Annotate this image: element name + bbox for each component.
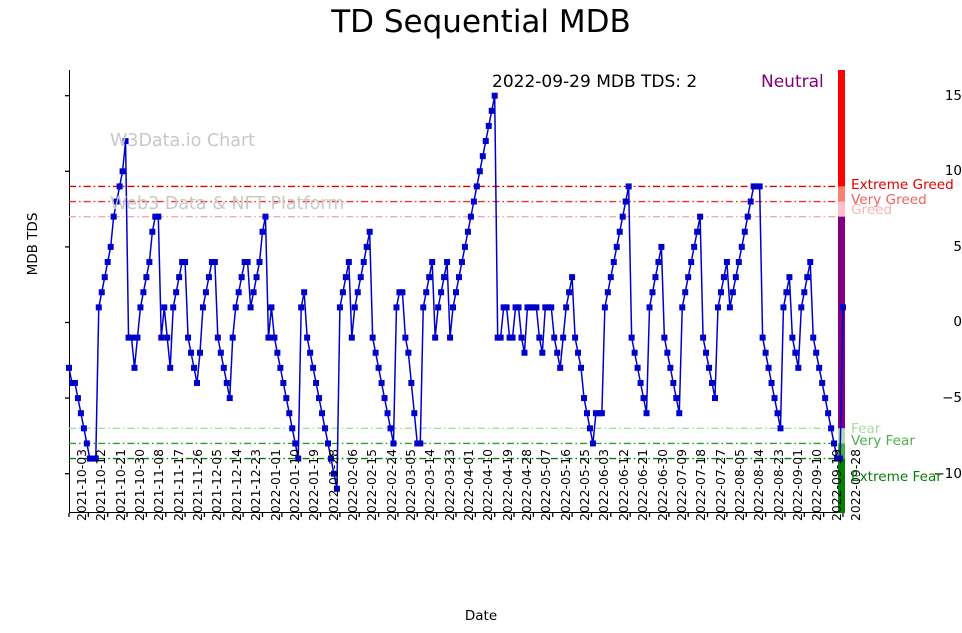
x-tick-label: 2022-04-10 [480,449,495,521]
x-tick-label: 2022-02-15 [364,449,379,521]
x-tick-label: 2022-06-12 [616,449,631,521]
sentiment-color-bar [838,70,845,513]
x-tick-label: 2022-08-23 [771,449,786,521]
threshold-label-very-fear: Very Fear [851,433,915,449]
x-tick-label: 2022-04-19 [500,449,515,521]
x-tick-label: 2021-10-03 [74,449,89,521]
x-tick-label: 2021-11-17 [171,449,186,521]
x-tick-label: 2021-11-26 [190,449,205,521]
x-tick-label: 2022-07-09 [674,449,689,521]
x-tick-label: 2022-06-30 [655,449,670,521]
x-tick-label: 2022-02-24 [384,449,399,521]
x-tick-label: 2022-01-10 [287,449,302,521]
y-tick-label: 0 [922,314,962,330]
threshold-label-extreme-fear: Extreme Fear [851,469,942,485]
x-tick-label: 2021-12-14 [229,449,244,521]
x-tick-label: 2022-07-18 [693,449,708,521]
x-tick-label: 2021-12-23 [248,449,263,521]
x-tick-label: 2022-01-19 [306,449,321,521]
threshold-label-greed: Greed [851,202,892,218]
x-tick-label: 2022-07-27 [713,449,728,521]
latest-reading-annotation: 2022-09-29 MDB TDS: 2 [492,72,697,92]
x-tick-label: 2021-12-05 [209,449,224,521]
x-tick-label: 2022-09-01 [790,449,805,521]
x-tick-label: 2022-04-01 [461,449,476,521]
x-tick-label: 2022-03-05 [403,449,418,521]
y-tick-label: 5 [922,239,962,255]
x-tick-label: 2022-08-14 [751,449,766,521]
x-tick-label: 2021-10-30 [132,449,147,521]
y-tick-label: 15 [922,88,962,104]
watermark-line-1: W3Data.io Chart [110,131,344,152]
x-tick-label: 2022-03-23 [442,449,457,521]
watermark-line-2: Web3 Data & NFT Platform [110,194,344,215]
x-tick-label: 2022-06-21 [635,449,650,521]
x-tick-label: 2022-09-19 [829,449,844,521]
x-tick-label: 2022-03-14 [422,449,437,521]
x-tick-label: 2022-08-05 [732,449,747,521]
x-tick-label: 2022-01-01 [268,449,283,521]
x-tick-label: 2021-10-21 [113,449,128,521]
x-tick-label: 2022-02-06 [345,449,360,521]
sentiment-state-label: Neutral [761,72,824,92]
x-tick-label: 2021-10-12 [93,449,108,521]
y-tick-label: −5 [922,390,962,406]
x-tick-label: 2022-04-28 [519,449,534,521]
x-tick-label: 2022-09-10 [809,449,824,521]
x-tick-label: 2022-05-07 [538,449,553,521]
x-axis-title: Date [0,608,962,624]
x-tick-label: 2022-05-16 [558,449,573,521]
y-axis-title: MDB TDS [25,164,41,324]
watermark: W3Data.io Chart Web3 Data & NFT Platform [110,89,344,257]
x-tick-label: 2022-06-03 [596,449,611,521]
x-tick-label: 2022-05-25 [577,449,592,521]
x-tick-label: 2022-01-28 [326,449,341,521]
x-tick-label: 2021-11-08 [151,449,166,521]
